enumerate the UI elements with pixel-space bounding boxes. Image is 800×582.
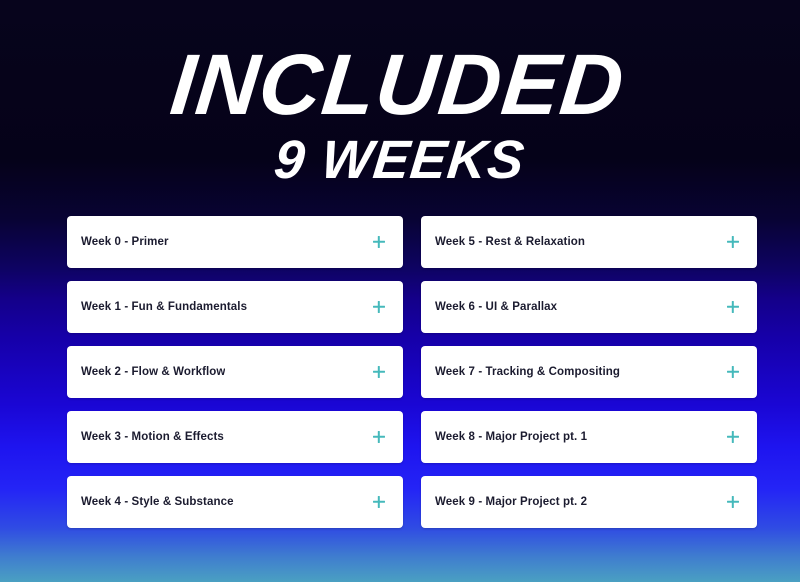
accordion-item-label: Week 5 - Rest & Relaxation [435,236,585,248]
accordion-item-label: Week 8 - Major Project pt. 1 [435,431,587,443]
accordion-item[interactable]: Week 4 - Style & Substance [67,476,403,528]
accordion-item-label: Week 3 - Motion & Effects [81,431,224,443]
weeks-accordion-list: Week 0 - PrimerWeek 5 - Rest & Relaxatio… [67,216,757,528]
included-weeks-section: INCLUDED 9 WEEKS Week 0 - PrimerWeek 5 -… [0,0,800,582]
accordion-item[interactable]: Week 7 - Tracking & Compositing [421,346,757,398]
plus-icon[interactable] [725,234,741,250]
accordion-item-label: Week 0 - Primer [81,236,169,248]
accordion-item[interactable]: Week 8 - Major Project pt. 1 [421,411,757,463]
accordion-item-label: Week 1 - Fun & Fundamentals [81,301,247,313]
accordion-item[interactable]: Week 3 - Motion & Effects [67,411,403,463]
plus-icon[interactable] [371,234,387,250]
plus-icon[interactable] [725,429,741,445]
accordion-item[interactable]: Week 2 - Flow & Workflow [67,346,403,398]
plus-icon[interactable] [725,364,741,380]
accordion-item[interactable]: Week 1 - Fun & Fundamentals [67,281,403,333]
page-subtitle: 9 WEEKS [0,125,800,187]
accordion-item-label: Week 6 - UI & Parallax [435,301,557,313]
section-header: INCLUDED 9 WEEKS [0,0,800,187]
accordion-item[interactable]: Week 9 - Major Project pt. 2 [421,476,757,528]
accordion-item-label: Week 2 - Flow & Workflow [81,366,225,378]
accordion-item-label: Week 9 - Major Project pt. 2 [435,496,587,508]
plus-icon[interactable] [725,299,741,315]
page-title: INCLUDED [0,0,800,125]
plus-icon[interactable] [371,299,387,315]
accordion-item-label: Week 4 - Style & Substance [81,496,234,508]
accordion-item-label: Week 7 - Tracking & Compositing [435,366,620,378]
plus-icon[interactable] [725,494,741,510]
accordion-item[interactable]: Week 6 - UI & Parallax [421,281,757,333]
plus-icon[interactable] [371,429,387,445]
plus-icon[interactable] [371,364,387,380]
plus-icon[interactable] [371,494,387,510]
accordion-item[interactable]: Week 0 - Primer [67,216,403,268]
accordion-item[interactable]: Week 5 - Rest & Relaxation [421,216,757,268]
